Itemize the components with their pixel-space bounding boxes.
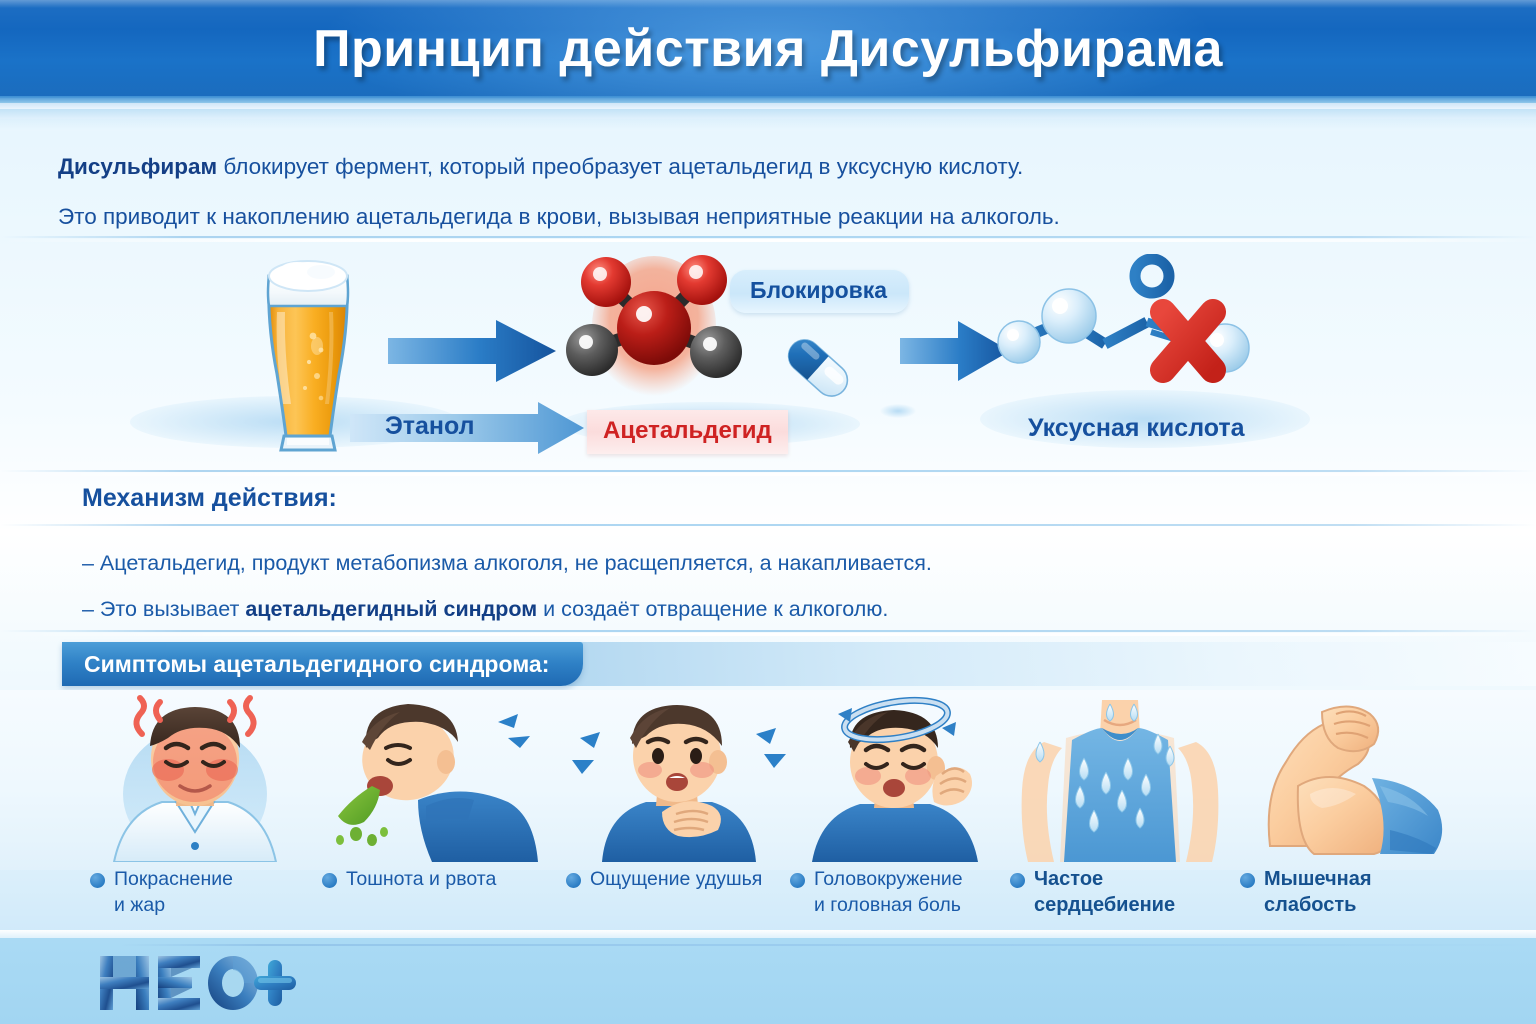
bullet-dot-icon bbox=[1010, 873, 1025, 888]
vomiting-person-icon bbox=[322, 690, 542, 862]
divider-above-symptoms bbox=[0, 630, 1536, 632]
mechanism-item-2-suffix: и создаёт отвращение к алкоголю. bbox=[537, 597, 888, 621]
symptom-label: Мышечная слабость bbox=[1240, 866, 1372, 918]
reaction-diagram: Блокировка bbox=[0, 244, 1536, 468]
symptom-label: Частое сердцебиение bbox=[1010, 866, 1175, 918]
beer-glass-icon bbox=[253, 254, 363, 454]
symptom-label: Покраснение и жар bbox=[90, 866, 233, 918]
symptom-text-line2: и головная боль bbox=[814, 894, 961, 916]
symptom-item-choking[interactable]: Ощущение удушья bbox=[566, 690, 788, 940]
flexed-arm-icon bbox=[1240, 690, 1450, 862]
symptom-item-palpitations[interactable]: Частое сердцебиение bbox=[1010, 690, 1230, 940]
intro-line-1-rest: блокирует фермент, который преобразует а… bbox=[217, 154, 1023, 179]
acetic-acid-molecule-icon bbox=[985, 254, 1285, 404]
symptom-label: Головокружение и головная боль bbox=[790, 866, 963, 918]
symptom-item-flushed[interactable]: Покраснение и жар bbox=[90, 690, 300, 940]
symptom-text-line2: и жар bbox=[114, 894, 165, 916]
intro-line-1: Дисульфирам блокирует фермент, который п… bbox=[58, 142, 1348, 192]
divider-above-mechanism bbox=[0, 470, 1536, 472]
symptom-text: Тошнота и рвота bbox=[346, 866, 496, 892]
header-wave-3 bbox=[0, 109, 1536, 119]
acetic-acid-label: Уксусная кислота bbox=[1028, 414, 1245, 443]
intro-paragraph: Дисульфирам блокирует фермент, который п… bbox=[58, 142, 1348, 242]
block-badge: Блокировка bbox=[730, 270, 909, 313]
divider-under-mechanism-title-highlight bbox=[0, 527, 1536, 530]
neo-plus-logo bbox=[96, 952, 296, 1014]
bullet-dot-icon bbox=[322, 873, 337, 888]
symptom-text: Ощущение удушья bbox=[590, 866, 762, 892]
header-wave-4 bbox=[0, 119, 1536, 131]
mechanism-title: Механизм действия: bbox=[82, 484, 337, 513]
symptom-text-line2: слабость bbox=[1264, 894, 1356, 916]
symptom-label: Тошнота и рвота bbox=[322, 866, 496, 892]
intro-line-2: Это приводит к накоплению ацетальдегида … bbox=[58, 192, 1348, 242]
symptom-text-line1: Головокружение bbox=[814, 868, 963, 890]
choking-person-icon bbox=[566, 690, 788, 862]
acetaldehyde-label: Ацетальдегид bbox=[587, 410, 788, 454]
puddle-shape-dot bbox=[880, 404, 916, 418]
divider-under-mechanism-title bbox=[0, 524, 1536, 526]
divider-above-symptoms-highlight bbox=[0, 633, 1536, 636]
intro-drug-name: Дисульфирам bbox=[58, 154, 217, 179]
flushed-face-icon bbox=[90, 690, 300, 862]
symptom-item-muscle-weakness[interactable]: Мышечная слабость bbox=[1240, 690, 1450, 940]
dizzy-person-icon bbox=[790, 690, 1012, 862]
symptoms-row: Покраснение и жар bbox=[0, 690, 1536, 940]
symptoms-banner-tail bbox=[560, 642, 1536, 686]
symptom-text-line2: сердцебиение bbox=[1034, 894, 1175, 916]
capsule-pill-icon bbox=[770, 320, 866, 416]
bullet-dot-icon bbox=[1240, 873, 1255, 888]
header-bar: Принцип действия Дисульфирама bbox=[0, 0, 1536, 98]
symptom-text-line1: Покраснение bbox=[114, 868, 233, 890]
sweating-torso-icon bbox=[1010, 690, 1230, 862]
symptom-text: Мышечная слабость bbox=[1264, 866, 1372, 918]
symptoms-banner: Симптомы ацетальдегидного синдрома: bbox=[62, 642, 583, 686]
symptom-text: Покраснение и жар bbox=[114, 866, 233, 918]
divider-above-diagram bbox=[0, 236, 1536, 238]
infographic-poster: Принцип действия Дисульфирама Дисульфира… bbox=[0, 0, 1536, 1024]
bullet-dot-icon bbox=[566, 873, 581, 888]
arrow-ethanol-to-acetaldehyde bbox=[388, 318, 558, 389]
symptom-text-line1: Частое bbox=[1034, 868, 1103, 890]
mechanism-list: – Ацетальдегид, продукт метабопизма алко… bbox=[82, 540, 1402, 632]
symptom-item-vomiting[interactable]: Тошнота и рвота bbox=[322, 690, 542, 940]
footer-divider bbox=[120, 944, 1536, 946]
header-wave-1 bbox=[0, 96, 1536, 103]
symptom-item-dizzy[interactable]: Головокружение и головная боль bbox=[790, 690, 1012, 940]
mechanism-item-2: – Это вызывает ацетальдегидный синдром и… bbox=[82, 586, 1402, 632]
page-title: Принцип действия Дисульфирама bbox=[0, 0, 1536, 98]
divider-above-mechanism-highlight bbox=[0, 473, 1536, 476]
bullet-dot-icon bbox=[790, 873, 805, 888]
divider-above-diagram-highlight bbox=[0, 239, 1536, 242]
mechanism-item-1: – Ацетальдегид, продукт метабопизма алко… bbox=[82, 540, 1402, 586]
symptom-label: Ощущение удушья bbox=[566, 866, 762, 892]
symptom-text: Частое сердцебиение bbox=[1034, 866, 1175, 918]
symptom-text: Головокружение и головная боль bbox=[814, 866, 963, 918]
acetaldehyde-molecule-icon bbox=[556, 252, 756, 402]
bullet-dot-icon bbox=[90, 873, 105, 888]
ethanol-label: Этанол bbox=[385, 412, 475, 441]
mechanism-item-1-text: – Ацетальдегид, продукт метабопизма алко… bbox=[82, 551, 932, 575]
mechanism-item-2-prefix: – Это вызывает bbox=[82, 597, 245, 621]
symptom-text-line1: Мышечная bbox=[1264, 868, 1372, 890]
mechanism-item-2-bold: ацетальдегидный синдром bbox=[245, 597, 537, 621]
